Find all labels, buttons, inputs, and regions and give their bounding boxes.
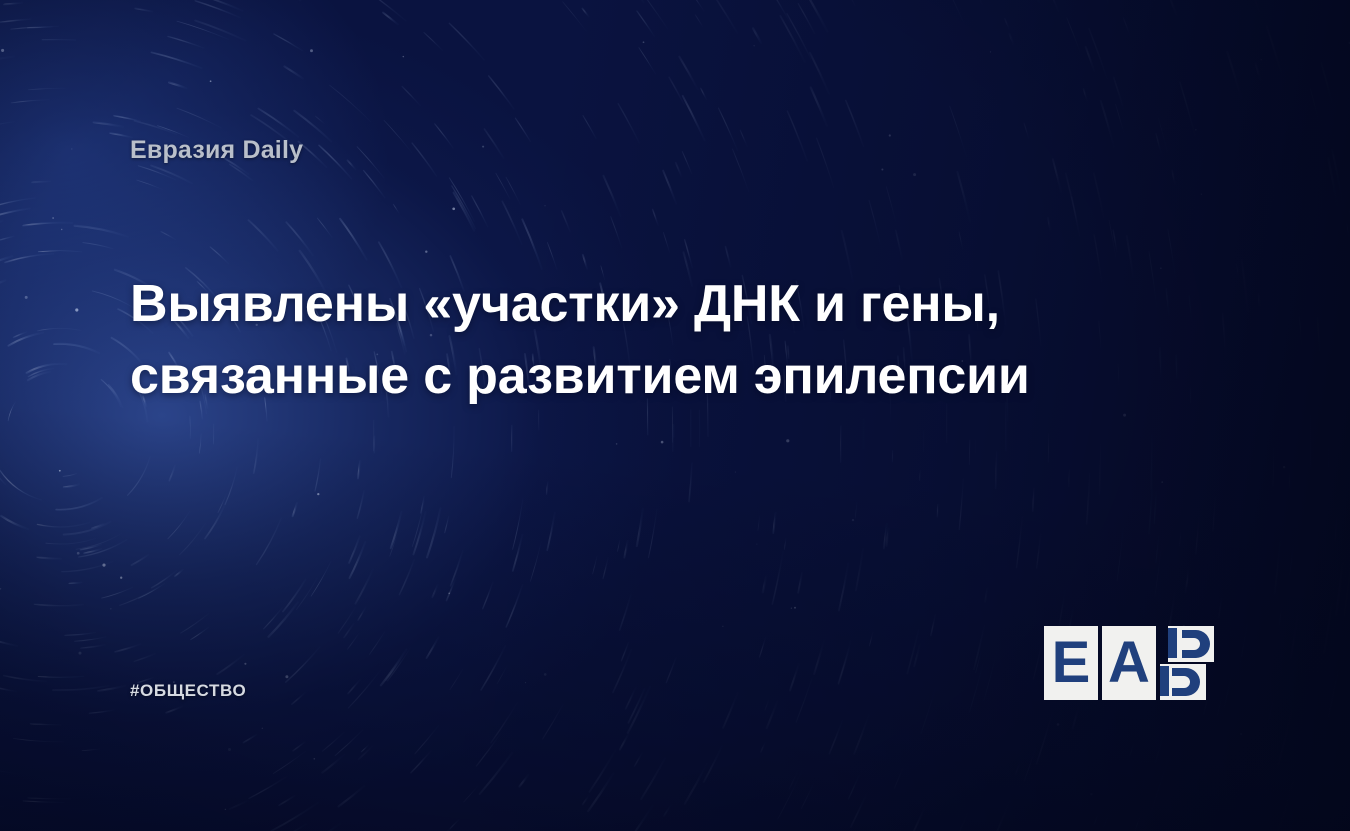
logo-tile-e: E: [1044, 626, 1098, 700]
share-card: Евразия Daily Выявлены «участки» ДНК и г…: [0, 0, 1350, 831]
headline-line-1: Выявлены «участки» ДНК и гены,: [130, 268, 1090, 340]
headline: Выявлены «участки» ДНК и гены, связанные…: [130, 268, 1090, 412]
category-tag: #ОБЩЕСТВО: [130, 681, 246, 701]
headline-line-2: связанные с развитием эпилепсии: [130, 340, 1090, 412]
logo-tile-mark: [1160, 626, 1214, 700]
logo-tile-a: A: [1102, 626, 1156, 700]
background-vignette: [0, 0, 1350, 831]
eadaily-logo: E A: [1044, 626, 1214, 700]
site-name: Евразия Daily: [130, 136, 303, 165]
